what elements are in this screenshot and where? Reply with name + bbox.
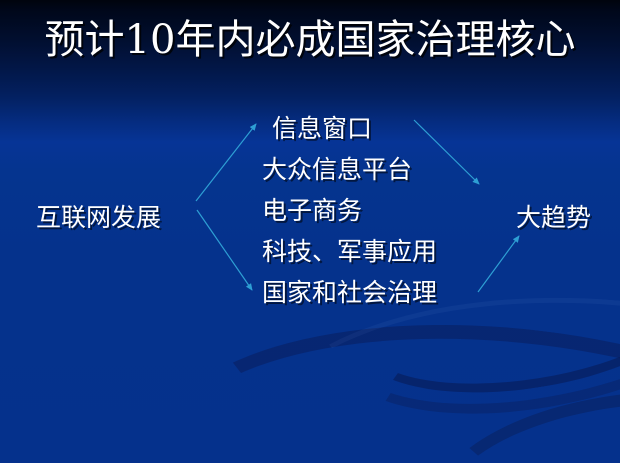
- list-item: 大众信息平台: [250, 149, 510, 190]
- left-label-internet-development: 互联网发展: [36, 197, 161, 238]
- list-item: 国家和社会治理: [250, 272, 510, 313]
- arrow-left-up-icon: [196, 124, 256, 201]
- slide-canvas: 预计10年内必成国家治理核心 互联网发展 信息窗口 大众信息平台 电子商务 科技…: [0, 0, 620, 463]
- right-label-mega-trend: 大趋势: [516, 197, 591, 238]
- list-item: 信息窗口: [250, 108, 510, 149]
- list-item: 电子商务: [250, 190, 510, 231]
- center-item-list: 信息窗口 大众信息平台 电子商务 科技、军事应用 国家和社会治理: [250, 108, 510, 313]
- arrow-left-down-icon: [197, 210, 252, 290]
- slide-title: 预计10年内必成国家治理核心: [0, 14, 620, 66]
- list-item: 科技、军事应用: [250, 231, 510, 272]
- background-swoosh-dark-4: [423, 377, 620, 463]
